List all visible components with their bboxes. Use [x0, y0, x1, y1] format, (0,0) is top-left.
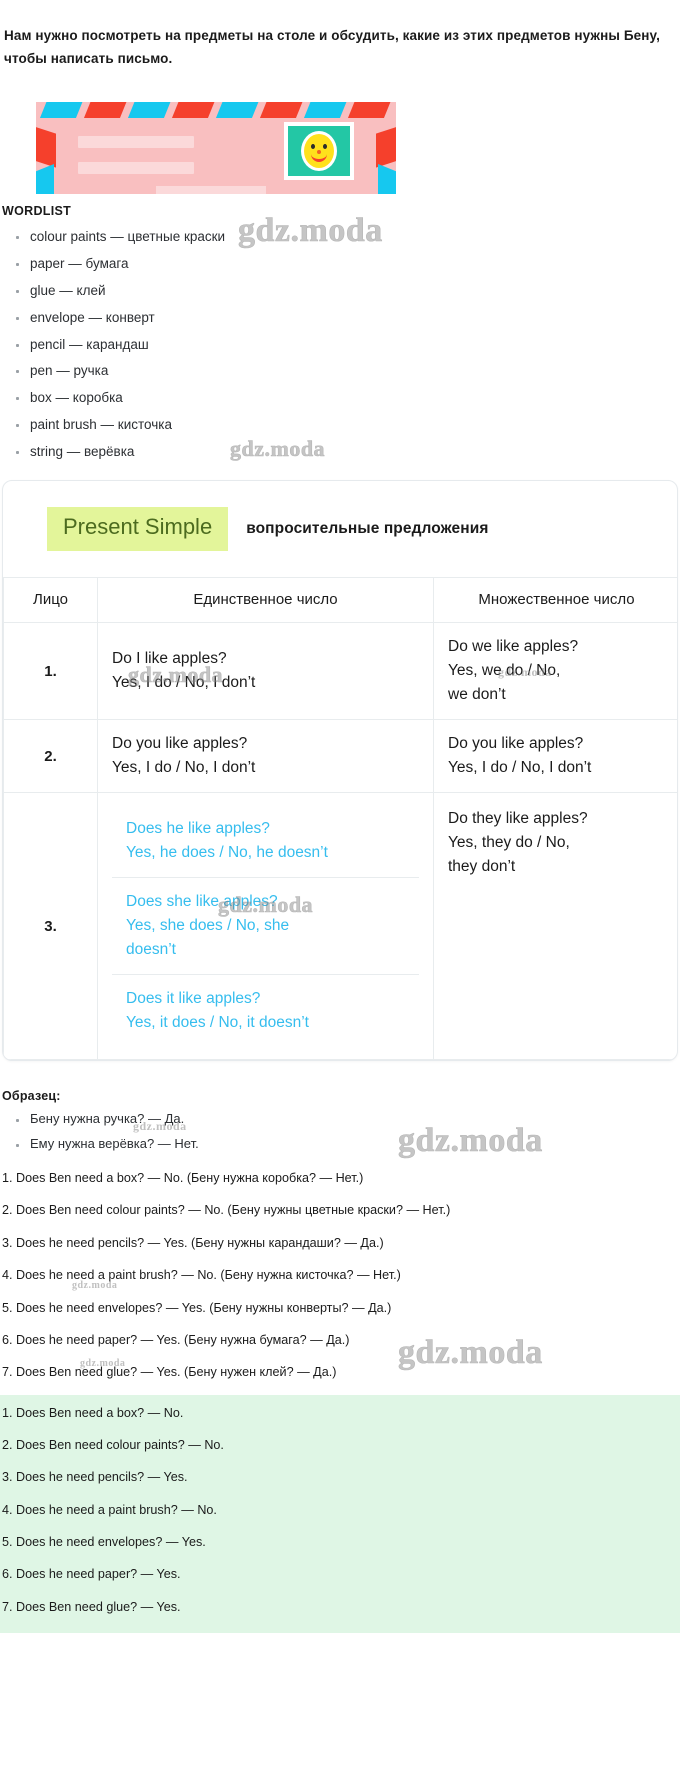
list-item: paper — бумага — [30, 251, 680, 278]
cell-plural: Do they like apples? Yes, they do / No, … — [434, 793, 679, 1060]
question-line: Do they like apples? — [448, 807, 665, 831]
stripe-red-icon — [172, 102, 216, 118]
question-line: Do you like apples? — [448, 732, 665, 756]
list-item: envelope — конверт — [30, 305, 680, 332]
answer-line: Yes, they do / No, — [448, 831, 665, 855]
stamp-inner — [288, 126, 350, 176]
table-row: 1. Do I like apples? Yes, I do / No, I d… — [4, 623, 679, 720]
answer-line-cont: they don’t — [448, 855, 665, 879]
table-row: 3. Does he like apples? Yes, he does / N… — [4, 793, 679, 1060]
stripe-blue-icon — [304, 102, 348, 118]
answers-highlighted: 1. Does Ben need a box? — No. 2. Does Be… — [0, 1395, 680, 1634]
smiley-face-icon — [304, 134, 334, 168]
answer-line: 4. Does he need a paint brush? — No. (Бе… — [0, 1259, 680, 1291]
answer-line: Yes, we do / No, — [448, 659, 665, 683]
row-number: 3. — [4, 793, 98, 1060]
tense-subtitle: вопросительные предложения — [246, 520, 488, 538]
page-root: Нам нужно посмотреть на предметы на стол… — [0, 0, 680, 1769]
envelope-illustration — [36, 102, 396, 194]
answer-line-cont: doesn’t — [126, 938, 405, 962]
answer-line: Yes, it does / No, it doesn’t — [126, 1011, 405, 1035]
answer-line: 3. Does he need pencils? — Yes. — [0, 1461, 680, 1493]
cell-singular: Do I like apples? Yes, I do / No, I don’… — [98, 623, 434, 720]
cell-singular-groups: Does he like apples? Yes, he does / No, … — [98, 793, 434, 1060]
list-item: pencil — карандаш — [30, 332, 680, 359]
tense-badge: Present Simple — [47, 507, 228, 551]
answer-line: Yes, I do / No, I don’t — [112, 671, 419, 695]
stripe-red-icon — [84, 102, 128, 118]
answer-line: 5. Does he need envelopes? — Yes. — [0, 1526, 680, 1558]
sample-list: Бену нужна ручка? — Да. Ему нужна верёвк… — [0, 1107, 680, 1156]
intro-paragraph: Нам нужно посмотреть на предметы на стол… — [0, 14, 680, 71]
answer-line: 2. Does Ben need colour paints? — No. (Б… — [0, 1194, 680, 1226]
envelope-address-line — [78, 136, 194, 148]
list-item: colour paints — цветные краски — [30, 224, 680, 251]
grammar-table: Лицо Единственное число Множественное чи… — [3, 577, 678, 1060]
list-item: box — коробка — [30, 385, 680, 412]
envelope-illustration-wrapper — [0, 84, 680, 200]
subrow-she: Does she like apples? Yes, she does / No… — [112, 878, 419, 975]
envelope-bottom-strip — [156, 186, 266, 194]
table-row: 2. Do you like apples? Yes, I do / No, I… — [4, 720, 679, 793]
envelope-right-flap — [376, 127, 396, 168]
question-line: Does he like apples? — [126, 817, 405, 841]
smiley-mouth — [311, 151, 327, 162]
answer-line: 1. Does Ben need a box? — No. (Бену нужн… — [0, 1162, 680, 1194]
postage-stamp-icon — [284, 122, 354, 180]
list-item: Бену нужна ручка? — Да. — [30, 1107, 680, 1131]
answer-line: 5. Does he need envelopes? — Yes. (Бену … — [0, 1292, 680, 1324]
cell-plural: Do you like apples? Yes, I do / No, I do… — [434, 720, 679, 793]
answer-line: 6. Does he need paper? — Yes. (Бену нужн… — [0, 1324, 680, 1356]
row-number: 2. — [4, 720, 98, 793]
smiley-eye-right — [323, 144, 327, 149]
column-header-person: Лицо — [4, 578, 98, 623]
list-item: Ему нужна верёвка? — Нет. — [30, 1132, 680, 1156]
answer-line: Yes, he does / No, he doesn’t — [126, 841, 405, 865]
stripe-red-icon — [260, 102, 304, 118]
question-line: Does it like apples? — [126, 987, 405, 1011]
answer-line: Yes, I do / No, I don’t — [448, 756, 665, 780]
question-line: Do you like apples? — [112, 732, 419, 756]
answer-line: 7. Does Ben need glue? — Yes. — [0, 1591, 680, 1623]
stripe-red-icon — [348, 102, 392, 118]
answer-line: Yes, she does / No, she — [126, 914, 405, 938]
wordlist-title: WORDLIST — [2, 204, 680, 218]
answer-line: 1. Does Ben need a box? — No. — [0, 1397, 680, 1429]
question-line: Do I like apples? — [112, 647, 419, 671]
question-line: Does she like apples? — [126, 890, 405, 914]
column-header-plural: Множественное число — [434, 578, 679, 623]
answers-with-translation: 1. Does Ben need a box? — No. (Бену нужн… — [0, 1162, 680, 1389]
list-item: string — верёвка — [30, 439, 680, 466]
stripe-blue-icon — [40, 102, 84, 118]
wordlist: colour paints — цветные краски paper — б… — [0, 224, 680, 466]
envelope-left-flap — [36, 127, 56, 168]
answer-line: 2. Does Ben need colour paints? — No. — [0, 1429, 680, 1461]
list-item: paint brush — кисточка — [30, 412, 680, 439]
row-number: 1. — [4, 623, 98, 720]
answer-line: Yes, I do / No, I don’t — [112, 756, 419, 780]
table-header-row: Лицо Единственное число Множественное чи… — [4, 578, 679, 623]
sample-title: Образец: — [2, 1089, 680, 1103]
answer-line: 7. Does Ben need glue? — Yes. (Бену нуже… — [0, 1356, 680, 1388]
column-header-singular: Единственное число — [98, 578, 434, 623]
cell-singular: Do you like apples? Yes, I do / No, I do… — [98, 720, 434, 793]
answer-line: 3. Does he need pencils? — Yes. (Бену ну… — [0, 1227, 680, 1259]
stripe-blue-icon — [216, 102, 260, 118]
subrow-it: Does it like apples? Yes, it does / No, … — [112, 975, 419, 1047]
grammar-card: Present Simple вопросительные предложени… — [2, 480, 678, 1062]
answer-line: 6. Does he need paper? — Yes. — [0, 1558, 680, 1590]
smiley-eye-left — [311, 144, 315, 149]
cell-plural: Do we like apples? Yes, we do / No, we d… — [434, 623, 679, 720]
stripe-blue-icon — [128, 102, 172, 118]
question-line: Do we like apples? — [448, 635, 665, 659]
envelope-address-line — [78, 162, 194, 174]
list-item: pen — ручка — [30, 358, 680, 385]
answer-line: 4. Does he need a paint brush? — No. — [0, 1494, 680, 1526]
subrow-he: Does he like apples? Yes, he does / No, … — [112, 805, 419, 878]
grammar-card-header: Present Simple вопросительные предложени… — [3, 481, 677, 577]
list-item: glue — клей — [30, 278, 680, 305]
answer-line-cont: we don’t — [448, 683, 665, 707]
